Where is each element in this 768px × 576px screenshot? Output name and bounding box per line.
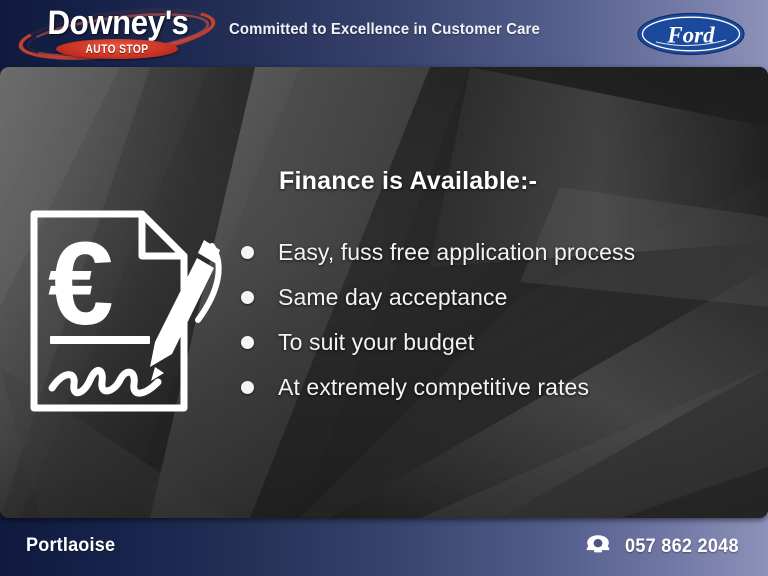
list-item-label: Easy, fuss free application process [278, 239, 635, 266]
page-title: Finance is Available:- [279, 167, 537, 196]
list-item: To suit your budget [241, 320, 741, 365]
tagline: Committed to Excellence in Customer Care [229, 21, 540, 39]
list-item-label: To suit your budget [278, 329, 474, 356]
euro-document-signature-icon: € [26, 206, 238, 416]
brand-name: Downey's [47, 5, 189, 41]
feature-list: Easy, fuss free application process Same… [241, 230, 741, 410]
list-item: At extremely competitive rates [241, 365, 741, 410]
brand-sub-label: AUTO STOP [65, 39, 169, 59]
brand-sub-pill: AUTO STOP [56, 39, 178, 59]
list-item: Same day acceptance [241, 275, 741, 320]
promo-banner: Downey's AUTO STOP Committed to Excellen… [0, 0, 768, 576]
bullet-dot-icon [241, 291, 254, 304]
contact-phone[interactable]: 057 862 2048 [585, 534, 742, 559]
ford-oval-icon: Ford [636, 12, 746, 56]
phone-number: 057 862 2048 [625, 536, 739, 558]
dealer-logo[interactable]: Downey's AUTO STOP [18, 3, 218, 63]
list-item-label: At extremely competitive rates [278, 374, 589, 401]
main-panel: € Finance is Available:- Easy, fuss free… [0, 67, 768, 518]
list-item: Easy, fuss free application process [241, 230, 741, 275]
bullet-dot-icon [241, 381, 254, 394]
dealer-location: Portlaoise [26, 535, 115, 557]
telephone-icon [585, 534, 611, 559]
list-item-label: Same day acceptance [278, 284, 508, 311]
footer-bar: Portlaoise 057 862 2048 [0, 518, 768, 576]
bullet-dot-icon [241, 246, 254, 259]
header-bar: Downey's AUTO STOP Committed to Excellen… [0, 0, 768, 67]
bullet-dot-icon [241, 336, 254, 349]
svg-text:€: € [48, 218, 114, 350]
